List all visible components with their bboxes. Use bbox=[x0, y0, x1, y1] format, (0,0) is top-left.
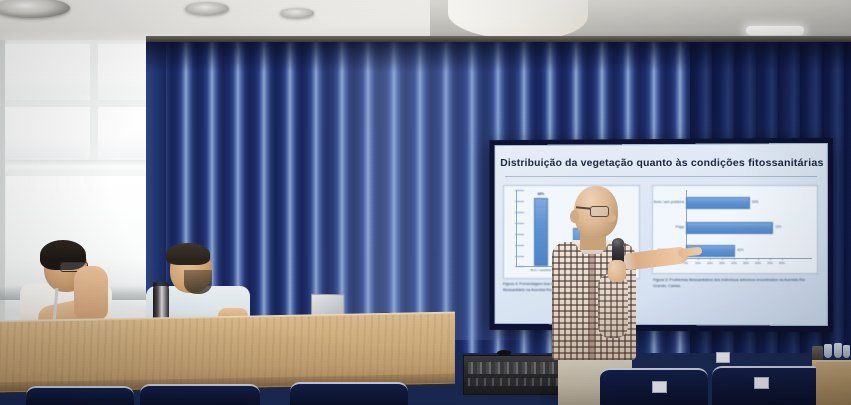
right-chart-xtick bbox=[734, 258, 735, 260]
right-chart-value-label: 72% bbox=[775, 225, 781, 229]
right-chart-xtick-label: 80% bbox=[776, 261, 788, 265]
left-chart-ytick bbox=[515, 212, 524, 213]
right-chart-xtick bbox=[746, 258, 747, 260]
right-chart-xtick bbox=[782, 258, 783, 260]
presenter-pointing-finger bbox=[678, 247, 703, 257]
chair-seat-tag bbox=[754, 377, 769, 389]
presenter-mic-arm bbox=[598, 274, 628, 338]
presenter-hand bbox=[608, 260, 626, 282]
conference-presentation-photo: Distribuição da vegetação quanto às cond… bbox=[0, 0, 851, 405]
slide-title-divider bbox=[505, 176, 817, 177]
panelist-beard bbox=[184, 270, 212, 294]
pitcher bbox=[812, 346, 823, 361]
right-chart-xtick-label: 60% bbox=[752, 261, 764, 265]
side-table bbox=[816, 362, 851, 405]
drinking-glass bbox=[843, 345, 850, 358]
ceiling-light-strip bbox=[746, 26, 804, 35]
curtain-rod bbox=[146, 36, 851, 42]
chair-seat-tag bbox=[652, 381, 667, 393]
left-chart-ytick bbox=[515, 245, 524, 246]
left-chart-ytick bbox=[515, 190, 524, 191]
left-chart-ytick bbox=[515, 223, 524, 224]
microphone-head-icon bbox=[612, 238, 624, 248]
right-chart-xtick-label: 50% bbox=[740, 261, 752, 265]
recessed-light-icon bbox=[280, 8, 314, 18]
seated-panelist-right bbox=[150, 246, 280, 326]
panelist-clasped-hands bbox=[74, 266, 108, 320]
left-chart-ytick bbox=[515, 201, 524, 202]
presenter-shirt-placket bbox=[590, 248, 594, 360]
right-chart-xtick-label: 30% bbox=[716, 261, 728, 265]
right-chart-xtick bbox=[722, 258, 723, 260]
audience-chair bbox=[290, 382, 408, 405]
left-chart-ytick bbox=[515, 234, 524, 235]
window-pane bbox=[4, 106, 90, 158]
right-chart-value-label: 53% bbox=[752, 200, 758, 204]
presenter-ear bbox=[570, 210, 579, 223]
right-chart-xtick-label: 70% bbox=[764, 261, 776, 265]
audience-chair bbox=[140, 384, 260, 405]
audio-mixer-dial bbox=[497, 350, 511, 356]
eyeglasses-icon bbox=[590, 206, 609, 217]
drinking-glass bbox=[834, 343, 842, 358]
audience-chair bbox=[26, 386, 134, 405]
recessed-light-icon bbox=[185, 2, 229, 15]
left-chart-ytick bbox=[515, 256, 524, 257]
right-chart-xtick-label: 40% bbox=[728, 261, 740, 265]
seated-panelist-left bbox=[18, 244, 158, 324]
right-chart-value-label: 41% bbox=[737, 248, 743, 252]
chair-seat-tag bbox=[716, 352, 730, 363]
window-pane bbox=[4, 44, 90, 100]
slide-title: Distribuição da vegetação quanto às cond… bbox=[502, 152, 822, 174]
right-chart-xtick bbox=[770, 258, 771, 260]
drinking-glass bbox=[824, 344, 832, 358]
curtain-top-shadow bbox=[146, 38, 851, 72]
right-chart-xtick bbox=[710, 258, 711, 260]
panelist-hair bbox=[166, 243, 210, 265]
left-chart-ytick bbox=[515, 266, 524, 267]
right-chart-xtick bbox=[758, 258, 759, 260]
